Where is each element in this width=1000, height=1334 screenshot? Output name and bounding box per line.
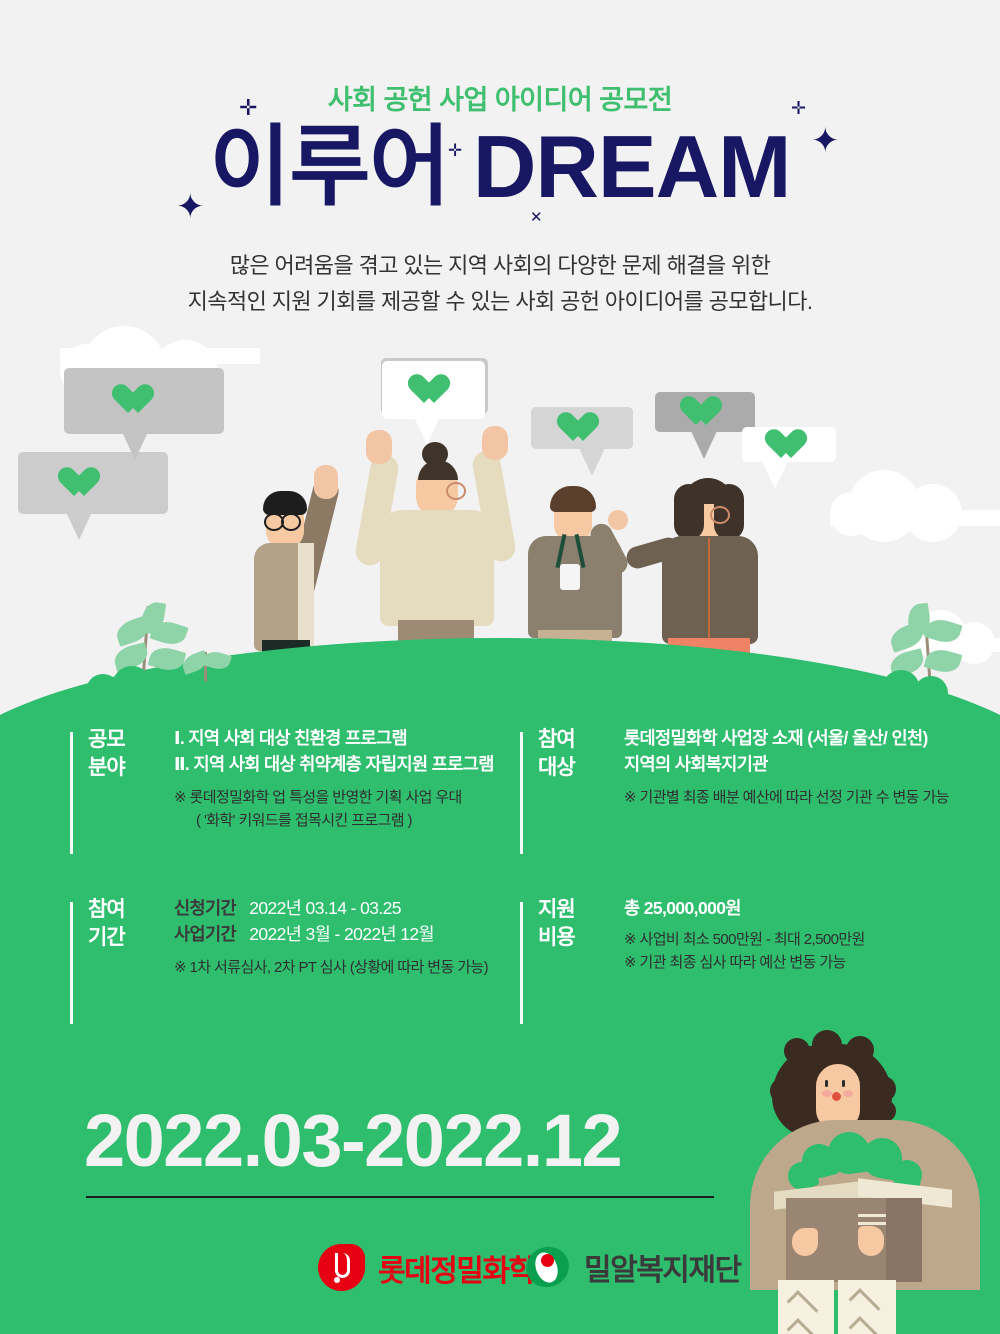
field-note: ( '화학' 키워드를 접목시킨 프로그램 ) [174, 810, 574, 833]
budget-item: 총 25,000,000원 [624, 896, 1000, 922]
person-figure-2 [358, 408, 518, 670]
lotte-logo-icon [318, 1244, 365, 1291]
logo-lotte: 롯데정밀화학 [318, 1244, 535, 1291]
footer-divider [86, 1196, 714, 1198]
info-body-budget: 총 25,000,000원 ※ 사업비 최소 500만원 - 최대 2,500만… [624, 896, 1000, 974]
speech-bubble [655, 392, 755, 432]
cell-divider [70, 902, 73, 1024]
target-item: 롯데정밀화학 사업장 소재 (서울/ 울산/ 인천) [624, 726, 1000, 752]
budget-note: ※ 기관 최종 심사 따라 예산 변동 가능 [624, 952, 1000, 975]
period-row-label: 사업기간 [174, 924, 236, 944]
heart-icon [773, 430, 807, 461]
campaign-date-range: 2022.03-2022.12 [84, 1098, 621, 1183]
target-note: ※ 기관별 최종 배분 예산에 따라 선정 기관 수 변동 가능 [624, 787, 1000, 810]
heart-icon [688, 397, 722, 428]
heart-icon [66, 468, 100, 499]
heart-icon [416, 375, 450, 406]
poster-root: ✛ ✦ ✛ ✦ ✛ ✕ 사회 공헌 사업 아이디어 공모전 이루어 DREAM … [0, 0, 1000, 1334]
heart-icon [565, 413, 599, 444]
info-label-target: 참여 대상 [538, 726, 622, 781]
woman-with-donation-box-illustration [750, 1034, 1000, 1334]
bush-decoration-left [86, 666, 246, 696]
id-badge-icon [560, 564, 580, 590]
person-figure-1 [252, 435, 362, 675]
logo-milal: 밀알복지재단 [524, 1245, 741, 1289]
info-body-period: 신청기간 2022년 03.14 - 03.25 사업기간 2022년 3월 -… [174, 896, 574, 980]
field-item: Ⅰ. 지역 사회 대상 친환경 프로그램 [174, 726, 574, 752]
cell-divider [520, 902, 523, 1024]
period-note: ※ 1차 서류심사, 2차 PT 심사 (상황에 따라 변동 가능) [174, 957, 574, 980]
heart-icon [120, 385, 154, 416]
lead-line-2: 지속적인 지원 기회를 제공할 수 있는 사회 공헌 아이디어를 공모합니다. [0, 284, 1000, 320]
period-row-label: 신청기간 [174, 898, 236, 918]
speech-bubble [18, 452, 168, 514]
field-item: Ⅱ. 지역 사회 대상 취약계층 자립지원 프로그램 [174, 752, 574, 778]
kicker-text: 사회 공헌 사업 아이디어 공모전 [0, 78, 1000, 117]
period-row: 사업기간 2022년 3월 - 2022년 12월 [174, 922, 574, 948]
milal-logo-text: 밀알복지재단 [584, 1245, 741, 1289]
cell-divider [520, 732, 523, 854]
info-label-budget: 지원 비용 [538, 896, 622, 951]
field-note: ※ 롯데정밀화학 업 특성을 반영한 기획 사업 우대 [174, 787, 574, 810]
period-row: 신청기간 2022년 03.14 - 03.25 [174, 896, 574, 922]
speech-bubble [742, 427, 836, 462]
lead-paragraph: 많은 어려움을 겪고 있는 지역 사회의 다양한 문제 해결을 위한 지속적인 … [0, 248, 1000, 319]
page-title: 이루어 DREAM [0, 118, 1000, 217]
target-item: 지역의 사회복지기관 [624, 752, 1000, 778]
period-row-value: 2022년 3월 - 2022년 12월 [249, 924, 434, 944]
milal-logo-icon [524, 1245, 571, 1289]
lotte-logo-text: 롯데정밀화학 [378, 1246, 535, 1290]
info-body-field: Ⅰ. 지역 사회 대상 친환경 프로그램 Ⅱ. 지역 사회 대상 취약계층 자립… [174, 726, 574, 832]
info-label-period: 참여 기간 [88, 896, 172, 951]
speech-bubble [531, 407, 633, 449]
bush-decoration-right [856, 668, 996, 698]
info-body-target: 롯데정밀화학 사업장 소재 (서울/ 울산/ 인천) 지역의 사회복지기관 ※ … [624, 726, 1000, 810]
info-label-field: 공모 분야 [88, 726, 172, 781]
period-row-value: 2022년 03.14 - 03.25 [249, 898, 401, 918]
lead-line-1: 많은 어려움을 겪고 있는 지역 사회의 다양한 문제 해결을 위한 [0, 248, 1000, 284]
speech-bubble [64, 368, 224, 434]
cell-divider [70, 732, 73, 854]
budget-note: ※ 사업비 최소 500만원 - 최대 2,500만원 [624, 929, 1000, 952]
